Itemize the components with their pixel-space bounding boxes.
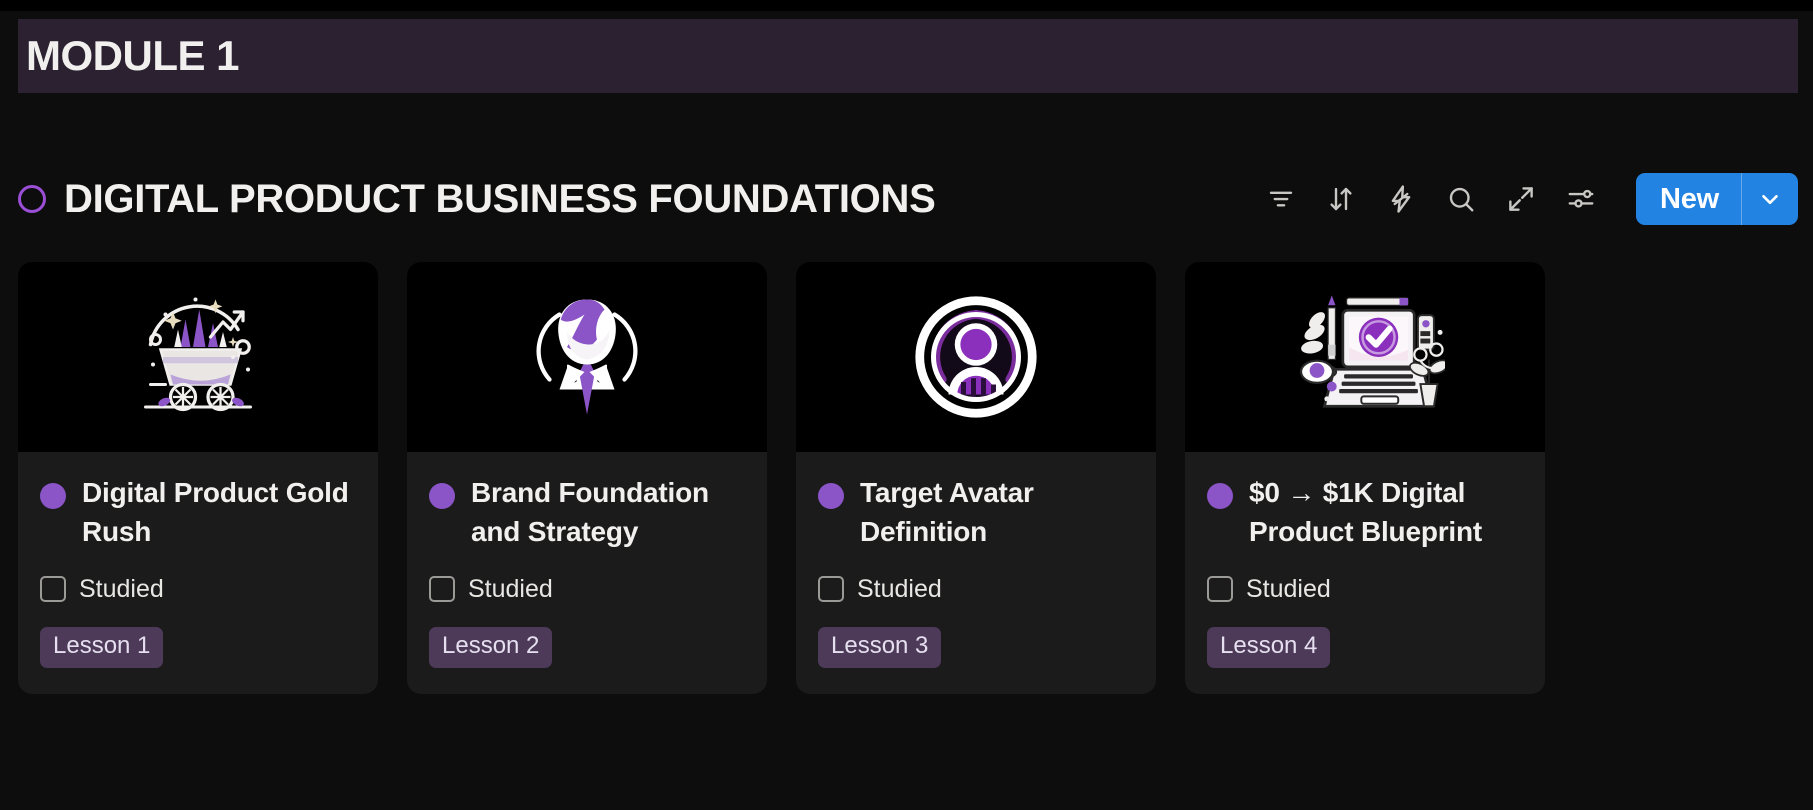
page-root: MODULE 1 DIGITAL PRODUCT BUSINESS FOUNDA… <box>0 0 1813 810</box>
studied-checkbox-label: Studied <box>79 577 164 602</box>
card-checkbox-row[interactable]: Studied <box>40 576 356 602</box>
card-badge-row: Lesson 3 <box>818 627 1134 667</box>
card-badge-row: Lesson 2 <box>429 627 745 667</box>
gallery-card[interactable]: Brand Foundation and Strategy Studied Le… <box>407 262 767 694</box>
card-status-dot <box>818 483 844 509</box>
card-title-row: Brand Foundation and Strategy <box>429 474 745 551</box>
module-banner-title: MODULE 1 <box>26 35 239 77</box>
card-status-dot <box>40 483 66 509</box>
filter-icon[interactable] <box>1264 182 1298 216</box>
database-header: DIGITAL PRODUCT BUSINESS FOUNDATIONS <box>18 165 1798 233</box>
card-body: Brand Foundation and Strategy Studied Le… <box>407 452 767 694</box>
database-title-group: DIGITAL PRODUCT BUSINESS FOUNDATIONS <box>18 179 1264 219</box>
card-title-row: $0 → $1K Digital Product Blueprint <box>1207 474 1523 551</box>
target-avatar-icon <box>901 282 1051 432</box>
lesson-badge: Lesson 2 <box>429 627 552 667</box>
lesson-badge: Lesson 3 <box>818 627 941 667</box>
sort-icon[interactable] <box>1324 182 1358 216</box>
top-strip <box>0 0 1813 11</box>
circle-ring-icon <box>18 185 46 213</box>
new-button[interactable]: New <box>1636 173 1798 225</box>
gallery-card[interactable]: Digital Product Gold Rush Studied Lesson… <box>18 262 378 694</box>
laptop-checkmark-icon <box>1285 282 1445 432</box>
studied-checkbox-label: Studied <box>1246 577 1331 602</box>
search-icon[interactable] <box>1444 182 1478 216</box>
card-cover <box>18 262 378 452</box>
database-toolbar: New <box>1264 173 1798 225</box>
card-status-dot <box>1207 483 1233 509</box>
card-checkbox-row[interactable]: Studied <box>818 576 1134 602</box>
gallery-card[interactable]: Target Avatar Definition Studied Lesson … <box>796 262 1156 694</box>
card-cover <box>407 262 767 452</box>
module-banner: MODULE 1 <box>18 19 1798 93</box>
card-body: $0 → $1K Digital Product Blueprint Studi… <box>1185 452 1545 694</box>
card-body: Target Avatar Definition Studied Lesson … <box>796 452 1156 694</box>
studied-checkbox-label: Studied <box>468 577 553 602</box>
new-button-label[interactable]: New <box>1636 173 1741 225</box>
mining-cart-growth-icon <box>123 282 273 432</box>
chevron-down-icon[interactable] <box>1742 173 1798 225</box>
gallery-card[interactable]: $0 → $1K Digital Product Blueprint Studi… <box>1185 262 1545 694</box>
card-title-row: Target Avatar Definition <box>818 474 1134 551</box>
expand-icon[interactable] <box>1504 182 1538 216</box>
card-badge-row: Lesson 1 <box>40 627 356 667</box>
card-cover <box>796 262 1156 452</box>
database-title: DIGITAL PRODUCT BUSINESS FOUNDATIONS <box>64 179 935 219</box>
card-title: Digital Product Gold Rush <box>82 474 356 551</box>
card-title: $0 → $1K Digital Product Blueprint <box>1249 474 1523 551</box>
card-checkbox-row[interactable]: Studied <box>429 576 745 602</box>
card-title: Target Avatar Definition <box>860 474 1134 551</box>
card-body: Digital Product Gold Rush Studied Lesson… <box>18 452 378 694</box>
lesson-badge: Lesson 4 <box>1207 627 1330 667</box>
card-gallery: Digital Product Gold Rush Studied Lesson… <box>18 262 1813 694</box>
card-title-row: Digital Product Gold Rush <box>40 474 356 551</box>
studied-checkbox-label: Studied <box>857 577 942 602</box>
lesson-badge: Lesson 1 <box>40 627 163 667</box>
card-status-dot <box>429 483 455 509</box>
card-checkbox-row[interactable]: Studied <box>1207 576 1523 602</box>
business-person-avatar-icon <box>512 282 662 432</box>
card-title: Brand Foundation and Strategy <box>471 474 745 551</box>
studied-checkbox[interactable] <box>1207 576 1233 602</box>
studied-checkbox[interactable] <box>40 576 66 602</box>
card-cover <box>1185 262 1545 452</box>
lightning-icon[interactable] <box>1384 182 1418 216</box>
sliders-icon[interactable] <box>1564 182 1598 216</box>
studied-checkbox[interactable] <box>818 576 844 602</box>
card-badge-row: Lesson 4 <box>1207 627 1523 667</box>
studied-checkbox[interactable] <box>429 576 455 602</box>
